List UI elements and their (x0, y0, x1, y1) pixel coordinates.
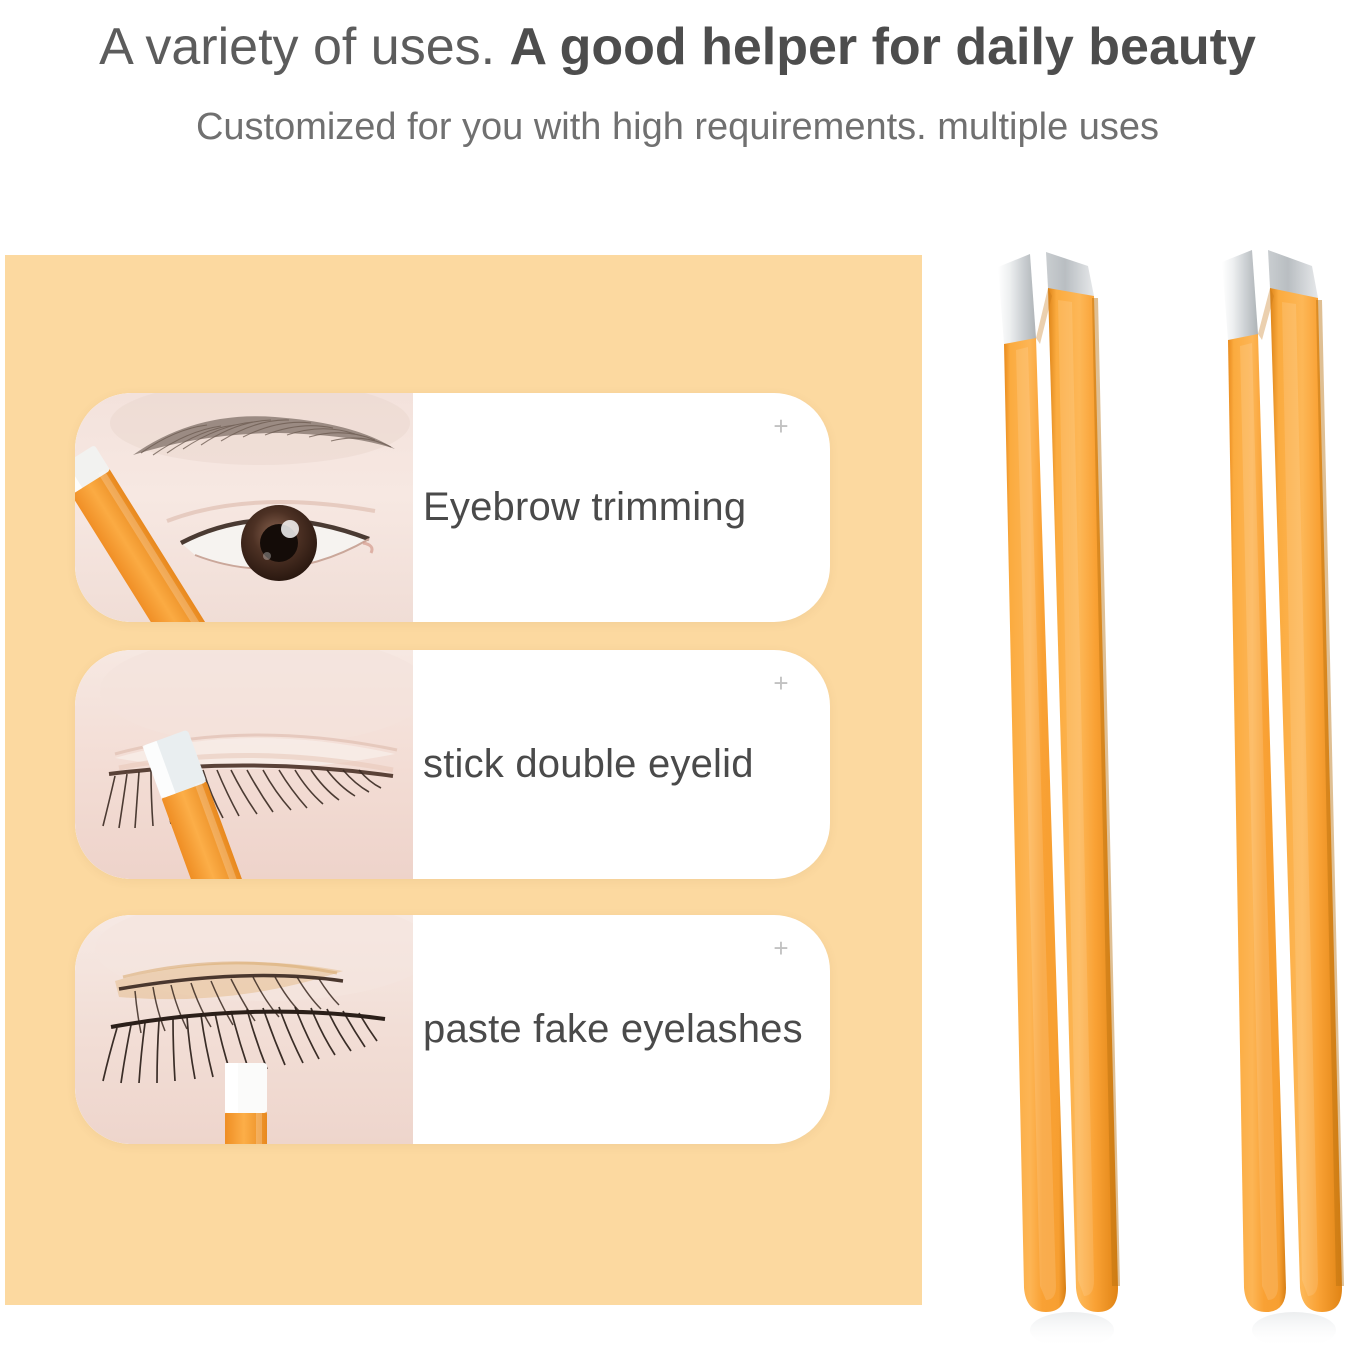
eyebrow-trimming-photo (75, 393, 413, 622)
use-row-eyebrow-trimming[interactable]: + Eyebrow trimming (75, 393, 830, 622)
use-card[interactable]: + Eyebrow trimming (75, 393, 830, 622)
uses-panel: + Eyebrow trimming (5, 255, 922, 1305)
page-subtitle: Customized for you with high requirement… (0, 102, 1355, 152)
fake-eyelashes-photo (75, 915, 413, 1144)
use-card[interactable]: + stick double eyelid (75, 650, 830, 879)
use-card-label: paste fake eyelashes (423, 915, 823, 1144)
use-row-paste-fake-eyelashes[interactable]: + paste fake eyelashes (75, 915, 830, 1144)
tweezer-left (998, 252, 1120, 1348)
page-title-light: A variety of uses. (99, 18, 495, 76)
use-row-stick-double-eyelid[interactable]: + stick double eyelid (75, 650, 830, 879)
double-eyelid-photo (75, 650, 413, 879)
use-card-label: Eyebrow trimming (423, 393, 823, 622)
page-title: A variety of uses. A good helper for dai… (0, 16, 1355, 78)
use-card[interactable]: + paste fake eyelashes (75, 915, 830, 1144)
header: A variety of uses. A good helper for dai… (0, 0, 1355, 200)
use-card-label: stick double eyelid (423, 650, 823, 879)
page-title-bold: A good helper for daily beauty (510, 18, 1256, 76)
tweezer-right (1222, 250, 1344, 1348)
product-tweezers (960, 240, 1355, 1355)
